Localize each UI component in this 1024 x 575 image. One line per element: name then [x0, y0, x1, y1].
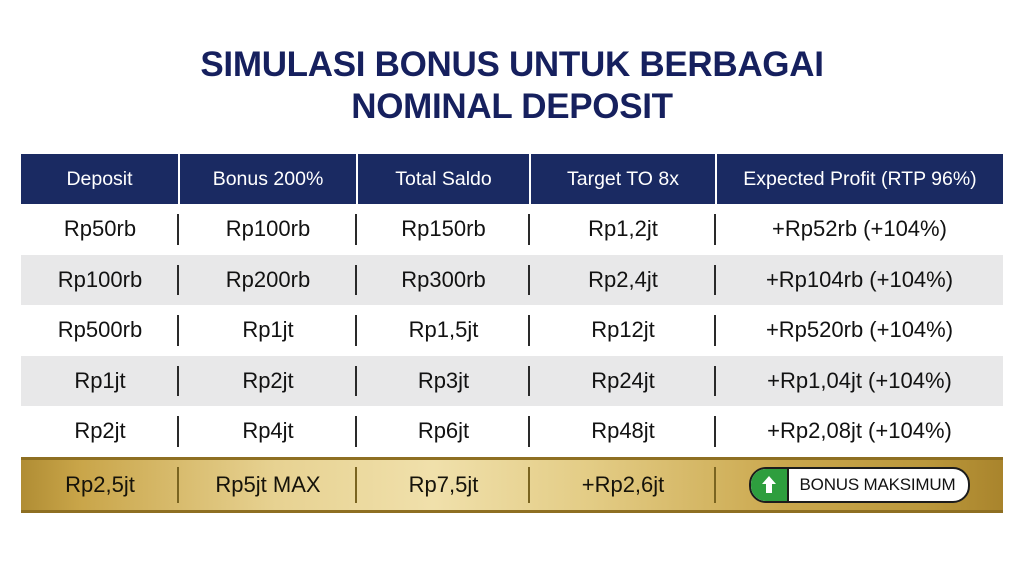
table-row: Rp50rb Rp100rb Rp150rb Rp1,2jt +Rp52rb (… [21, 204, 1003, 255]
cell-total-saldo: Rp6jt [357, 406, 530, 457]
page-title: SIMULASI BONUS UNTUK BERBAGAI NOMINAL DE… [0, 44, 1024, 128]
cell-max-bonus-badge: BONUS MAKSIMUM [716, 457, 1003, 513]
column-header-expected-profit: Expected Profit (RTP 96%) [716, 154, 1003, 204]
cell-bonus: Rp2jt [179, 356, 357, 407]
cell-expected-profit: +Rp520rb (+104%) [716, 305, 1003, 356]
status-badge: BONUS MAKSIMUM [749, 467, 971, 503]
bonus-simulation-table-wrapper: Deposit Bonus 200% Total Saldo Target TO… [21, 154, 1003, 513]
cell-bonus: Rp4jt [179, 406, 357, 457]
cell-expected-profit: +Rp2,08jt (+104%) [716, 406, 1003, 457]
cell-deposit: Rp500rb [21, 305, 179, 356]
cell-deposit: Rp2,5jt [21, 457, 179, 513]
column-header-deposit: Deposit [21, 154, 179, 204]
cell-target-to: Rp2,4jt [530, 255, 716, 306]
table-row: Rp2jt Rp4jt Rp6jt Rp48jt +Rp2,08jt (+104… [21, 406, 1003, 457]
cell-bonus: Rp1jt [179, 305, 357, 356]
cell-deposit: Rp1jt [21, 356, 179, 407]
column-header-total-saldo: Total Saldo [357, 154, 530, 204]
cell-target-to: Rp48jt [530, 406, 716, 457]
column-header-bonus: Bonus 200% [179, 154, 357, 204]
cell-bonus: Rp5jt MAX [179, 457, 357, 513]
cell-expected-profit: +Rp1,04jt (+104%) [716, 356, 1003, 407]
cell-deposit: Rp100rb [21, 255, 179, 306]
simulation-bonus-infographic: SIMULASI BONUS UNTUK BERBAGAI NOMINAL DE… [0, 0, 1024, 575]
column-header-target-to: Target TO 8x [530, 154, 716, 204]
table-header-row: Deposit Bonus 200% Total Saldo Target TO… [21, 154, 1003, 204]
cell-target-to: Rp24jt [530, 356, 716, 407]
page-title-line-2: NOMINAL DEPOSIT [0, 86, 1024, 128]
table-header: Deposit Bonus 200% Total Saldo Target TO… [21, 154, 1003, 204]
table-row: Rp1jt Rp2jt Rp3jt Rp24jt +Rp1,04jt (+104… [21, 356, 1003, 407]
arrow-up-icon [751, 469, 789, 501]
cell-deposit: Rp2jt [21, 406, 179, 457]
status-badge-label: BONUS MAKSIMUM [789, 469, 969, 501]
cell-expected-profit: +Rp52rb (+104%) [716, 204, 1003, 255]
cell-target-to: +Rp2,6jt [530, 457, 716, 513]
table-row-highlight: Rp2,5jt Rp5jt MAX Rp7,5jt +Rp2,6jt BONUS… [21, 457, 1003, 513]
page-title-line-1: SIMULASI BONUS UNTUK BERBAGAI [0, 44, 1024, 86]
table-row: Rp500rb Rp1jt Rp1,5jt Rp12jt +Rp520rb (+… [21, 305, 1003, 356]
cell-expected-profit: +Rp104rb (+104%) [716, 255, 1003, 306]
bonus-simulation-table: Deposit Bonus 200% Total Saldo Target TO… [21, 154, 1003, 513]
cell-total-saldo: Rp300rb [357, 255, 530, 306]
cell-total-saldo: Rp3jt [357, 356, 530, 407]
cell-total-saldo: Rp7,5jt [357, 457, 530, 513]
cell-bonus: Rp200rb [179, 255, 357, 306]
table-body: Rp50rb Rp100rb Rp150rb Rp1,2jt +Rp52rb (… [21, 204, 1003, 513]
cell-deposit: Rp50rb [21, 204, 179, 255]
cell-target-to: Rp1,2jt [530, 204, 716, 255]
cell-bonus: Rp100rb [179, 204, 357, 255]
cell-total-saldo: Rp1,5jt [357, 305, 530, 356]
cell-target-to: Rp12jt [530, 305, 716, 356]
cell-total-saldo: Rp150rb [357, 204, 530, 255]
table-row: Rp100rb Rp200rb Rp300rb Rp2,4jt +Rp104rb… [21, 255, 1003, 306]
